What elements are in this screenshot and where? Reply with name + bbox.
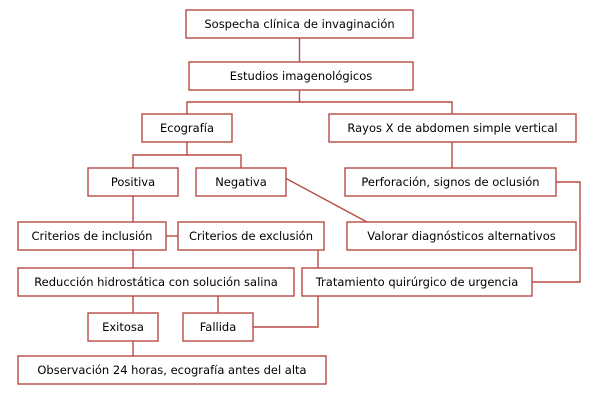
flow-node-label: Fallida	[200, 320, 237, 334]
flow-node[interactable]: Fallida	[183, 313, 253, 341]
flowchart-svg: Sospecha clínica de invaginaciónEstudios…	[0, 0, 602, 401]
flow-node[interactable]: Positiva	[88, 168, 178, 196]
flow-node-label: Tratamiento quirúrgico de urgencia	[315, 275, 519, 289]
flow-node[interactable]: Tratamiento quirúrgico de urgencia	[302, 268, 532, 296]
flow-node[interactable]: Valorar diagnósticos alternativos	[347, 222, 576, 250]
flow-node[interactable]: Negativa	[196, 168, 286, 196]
flow-node[interactable]: Ecografía	[142, 114, 232, 142]
flow-node-label: Sospecha clínica de invaginación	[204, 17, 394, 31]
flow-node-label: Reducción hidrostática con solución sali…	[34, 275, 278, 289]
flow-node-label: Rayos X de abdomen simple vertical	[347, 121, 557, 135]
flow-connector	[187, 155, 241, 168]
flow-node-label: Negativa	[215, 175, 267, 189]
flow-node[interactable]: Sospecha clínica de invaginación	[186, 10, 413, 38]
flow-connector	[187, 90, 300, 114]
node-layer: Sospecha clínica de invaginaciónEstudios…	[18, 10, 576, 384]
flow-node-label: Valorar diagnósticos alternativos	[367, 229, 556, 243]
flow-node-label: Positiva	[111, 175, 155, 189]
flow-node-label: Criterios de exclusión	[189, 229, 313, 243]
flow-node-label: Perforación, signos de oclusión	[361, 175, 539, 189]
flow-node-label: Exitosa	[102, 320, 144, 334]
flow-node[interactable]: Perforación, signos de oclusión	[345, 168, 556, 196]
flow-node[interactable]: Estudios imagenológicos	[189, 62, 413, 90]
flow-node[interactable]: Exitosa	[88, 313, 158, 341]
flow-node[interactable]: Criterios de exclusión	[178, 222, 324, 250]
flow-node[interactable]: Rayos X de abdomen simple vertical	[329, 114, 576, 142]
flow-node-label: Ecografía	[160, 121, 214, 135]
flow-connector	[300, 102, 453, 114]
flow-connector	[133, 142, 187, 168]
flow-node-label: Observación 24 horas, ecografía antes de…	[37, 363, 306, 377]
flow-node[interactable]: Criterios de inclusión	[18, 222, 166, 250]
flowchart-canvas: Sospecha clínica de invaginaciónEstudios…	[0, 0, 602, 401]
flow-connector	[253, 296, 318, 327]
flow-node[interactable]: Observación 24 horas, ecografía antes de…	[18, 356, 326, 384]
flow-node-label: Estudios imagenológicos	[230, 69, 372, 83]
flow-node[interactable]: Reducción hidrostática con solución sali…	[18, 268, 294, 296]
flow-node-label: Criterios de inclusión	[32, 229, 153, 243]
